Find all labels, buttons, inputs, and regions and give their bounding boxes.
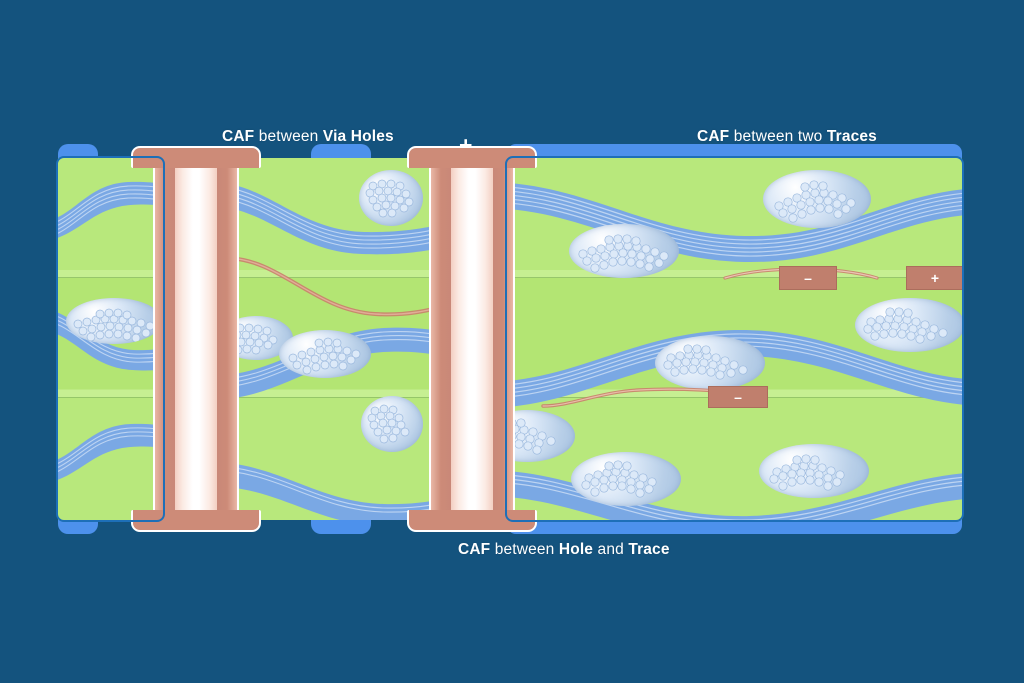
fiber-bundle-cross-section — [279, 330, 371, 378]
via-annular-ring-top — [407, 146, 537, 168]
label-hole-suffix: Trace — [628, 541, 669, 558]
laminate-panel-left — [58, 158, 163, 520]
fiber-bundle-cross-section — [507, 410, 575, 462]
glass-fiber-weave — [58, 420, 163, 484]
laminate-panel-right: – + – — [507, 158, 962, 520]
via-drill-hole — [175, 158, 217, 520]
pcb-cross-section: – + – — [58, 158, 962, 520]
via-hole-positive[interactable] — [429, 146, 515, 532]
via-annular-ring-top — [131, 146, 261, 168]
fiber-bundle-cross-section — [359, 170, 423, 226]
label-hole-middle: between — [490, 541, 559, 558]
label-hole-prefix: CAF — [458, 541, 490, 558]
fiber-bundle-cross-section — [361, 396, 423, 452]
trace-pad-positive[interactable]: + — [906, 266, 962, 290]
caf-filament-hole-to-trace — [543, 376, 733, 412]
via-hole-negative[interactable] — [153, 146, 239, 532]
label-via-suffix: Via Holes — [323, 128, 394, 145]
fiber-bundle-cross-section — [855, 298, 962, 352]
trace-pad-negative-label: – — [804, 271, 812, 285]
fiber-bundle-cross-section — [571, 452, 681, 506]
label-hole-middle3: and — [593, 541, 628, 558]
diagram-canvas: CAF between Via Holes CAF between two Tr… — [0, 0, 1024, 683]
layer-divider — [58, 397, 163, 398]
label-caf-between-hole-and-trace: CAF between Hole and Trace — [458, 541, 670, 559]
laminate-panel-middle — [231, 158, 439, 520]
fiber-bundle-cross-section — [569, 224, 679, 278]
via-drill-hole — [451, 158, 493, 520]
label-caf-between-via-holes: CAF between Via Holes — [222, 128, 394, 146]
fiber-bundle-cross-section — [759, 444, 869, 498]
label-trace-middle: between two — [729, 128, 827, 145]
fiber-bundle-cross-section — [66, 298, 162, 344]
label-trace-prefix: CAF — [697, 128, 729, 145]
label-via-middle: between — [254, 128, 323, 145]
fiber-bundle-cross-section — [763, 170, 871, 228]
layer-divider — [58, 277, 163, 278]
glass-fiber-weave — [231, 444, 439, 508]
via-annular-ring-bottom — [131, 510, 261, 532]
hole-trace-pad-negative[interactable]: – — [708, 386, 768, 408]
label-via-prefix: CAF — [222, 128, 254, 145]
label-hole-mid2: Hole — [559, 541, 593, 558]
trace-pad-negative[interactable]: – — [779, 266, 837, 290]
trace-pad-positive-label: + — [931, 271, 939, 285]
hole-trace-pad-negative-label: – — [734, 390, 742, 404]
via-annular-ring-bottom — [407, 510, 537, 532]
glass-fiber-weave — [58, 176, 163, 240]
label-trace-suffix: Traces — [827, 128, 877, 145]
